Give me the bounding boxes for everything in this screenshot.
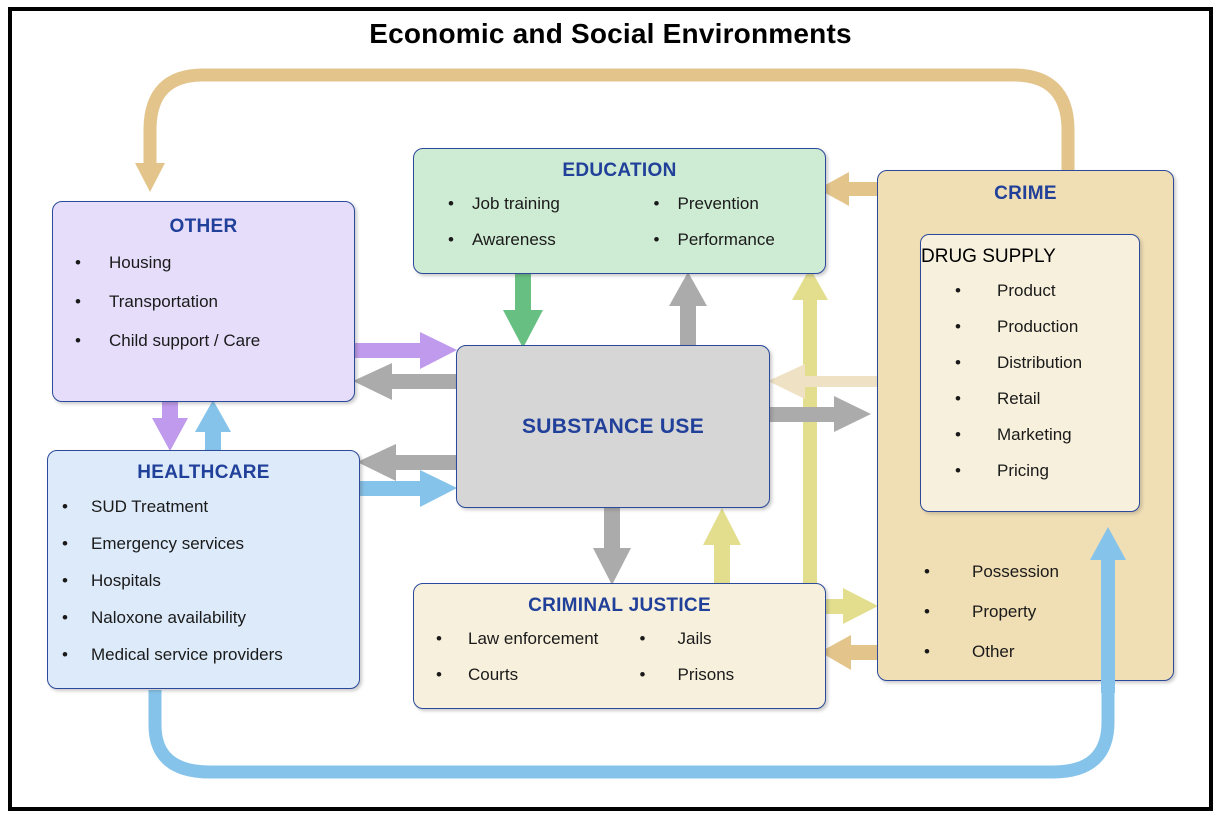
list-item-label: Marketing: [997, 426, 1139, 443]
box-crime[interactable]: CRIME DRUG SUPPLY •Product •Production •…: [877, 170, 1174, 681]
list-item: •Property: [878, 603, 1173, 620]
connector-crime-to-education: [818, 172, 879, 206]
list-item: •Jails: [620, 630, 826, 647]
list-item-label: Pricing: [997, 462, 1139, 479]
list-item: •Possession: [878, 563, 1173, 580]
bullet-glyph: •: [62, 646, 68, 663]
box-drug-supply[interactable]: DRUG SUPPLY •Product •Production •Distri…: [920, 234, 1140, 512]
bullet-glyph: •: [75, 293, 81, 310]
connector-other-to-healthcare: [152, 401, 188, 451]
diagram-canvas: Economic and Social Environments: [0, 0, 1221, 819]
bullet-glyph: •: [62, 609, 68, 626]
list-item-label: Child support / Care: [109, 332, 354, 349]
list-item-label: Awareness: [472, 231, 620, 248]
list-item-label: Job training: [472, 195, 620, 212]
list-item: •Law enforcement: [414, 630, 620, 647]
bullet-glyph: •: [955, 282, 961, 299]
bullet-glyph: •: [436, 666, 442, 683]
list-item: •Medical service providers: [48, 646, 359, 663]
box-education[interactable]: EDUCATION •Job training •Awareness •Prev…: [413, 148, 826, 274]
box-crime-list: •Possession •Property •Other: [878, 563, 1173, 660]
list-item-label: SUD Treatment: [91, 498, 359, 515]
bullet-glyph: •: [448, 231, 454, 248]
box-substance-use[interactable]: SUBSTANCE USE: [456, 345, 770, 508]
box-drug-supply-list: •Product •Production •Distribution •Reta…: [921, 282, 1139, 479]
box-substance-use-title: SUBSTANCE USE: [522, 415, 704, 439]
box-drug-supply-title: DRUG SUPPLY: [921, 246, 1139, 268]
list-item: •Production: [921, 318, 1139, 335]
bullet-glyph: •: [955, 318, 961, 335]
list-item-label: Distribution: [997, 354, 1139, 371]
box-education-column-2: •Prevention •Performance: [620, 195, 826, 267]
list-item: •Marketing: [921, 426, 1139, 443]
bullet-glyph: •: [640, 666, 646, 683]
list-item: •Performance: [620, 231, 826, 248]
list-item: •Other: [878, 643, 1173, 660]
list-item: •Distribution: [921, 354, 1139, 371]
connector-other-to-substance-use: [355, 332, 457, 369]
list-item: •Awareness: [414, 231, 620, 248]
bullet-glyph: •: [640, 630, 646, 647]
box-healthcare-title: HEALTHCARE: [48, 462, 359, 484]
connector-crime-to-criminal-justice: [820, 635, 879, 670]
list-item: •Child support / Care: [53, 332, 354, 349]
bullet-glyph: •: [62, 572, 68, 589]
bullet-glyph: •: [955, 390, 961, 407]
list-item-label: Property: [972, 603, 1173, 620]
box-healthcare[interactable]: HEALTHCARE •SUD Treatment •Emergency ser…: [47, 450, 360, 689]
list-item: •Hospitals: [48, 572, 359, 589]
box-other-list: •Housing •Transportation •Child support …: [53, 254, 354, 349]
bullet-glyph: •: [654, 195, 660, 212]
bullet-glyph: •: [924, 563, 930, 580]
list-item-label: Hospitals: [91, 572, 359, 589]
box-other[interactable]: OTHER •Housing •Transportation •Child su…: [52, 201, 355, 402]
list-item: •Retail: [921, 390, 1139, 407]
connector-healthcare-to-other: [195, 400, 231, 450]
list-item: •Housing: [53, 254, 354, 271]
bullet-glyph: •: [955, 426, 961, 443]
list-item-label: Courts: [468, 666, 620, 683]
list-item: •Pricing: [921, 462, 1139, 479]
list-item: •Courts: [414, 666, 620, 683]
connector-education-to-substance-use: [503, 274, 543, 348]
list-item-label: Product: [997, 282, 1139, 299]
bullet-glyph: •: [448, 195, 454, 212]
connector-substance-use-to-education: [669, 272, 707, 348]
connector-substance-use-to-crime: [770, 396, 871, 432]
list-item: •Naloxone availability: [48, 609, 359, 626]
bullet-glyph: •: [62, 498, 68, 515]
bullet-glyph: •: [924, 643, 930, 660]
list-item-label: Naloxone availability: [91, 609, 359, 626]
list-item-label: Law enforcement: [468, 630, 620, 647]
bullet-glyph: •: [955, 354, 961, 371]
list-item: •Job training: [414, 195, 620, 212]
box-healthcare-list: •SUD Treatment •Emergency services •Hosp…: [48, 498, 359, 663]
connector-substance-use-to-criminal-justice: [593, 508, 631, 585]
bullet-glyph: •: [75, 254, 81, 271]
list-item-label: Prevention: [678, 195, 826, 212]
list-item-label: Prisons: [678, 666, 826, 683]
list-item-label: Performance: [678, 231, 826, 248]
list-item-label: Possession: [972, 563, 1173, 580]
list-item: •SUD Treatment: [48, 498, 359, 515]
list-item: •Transportation: [53, 293, 354, 310]
list-item-label: Other: [972, 643, 1173, 660]
bullet-glyph: •: [436, 630, 442, 647]
list-item-label: Production: [997, 318, 1139, 335]
list-item-label: Emergency services: [91, 535, 359, 552]
box-criminal-justice-title: CRIMINAL JUSTICE: [414, 595, 825, 617]
list-item-label: Jails: [678, 630, 826, 647]
list-item: •Product: [921, 282, 1139, 299]
list-item-label: Retail: [997, 390, 1139, 407]
connector-substance-use-to-other: [353, 363, 458, 400]
bullet-glyph: •: [654, 231, 660, 248]
connector-healthcare-to-substance-use: [360, 470, 457, 507]
bullet-glyph: •: [62, 535, 68, 552]
list-item-label: Housing: [109, 254, 354, 271]
connector-criminal-justice-to-crime: [824, 588, 878, 624]
bullet-glyph: •: [955, 462, 961, 479]
list-item-label: Transportation: [109, 293, 354, 310]
list-item: •Prevention: [620, 195, 826, 212]
bullet-glyph: •: [75, 332, 81, 349]
box-criminal-justice-column-1: •Law enforcement •Courts: [414, 630, 620, 702]
connector-criminal-justice-to-substance-use: [703, 508, 741, 585]
bullet-glyph: •: [924, 603, 930, 620]
box-other-title: OTHER: [53, 216, 354, 238]
box-crime-title: CRIME: [878, 183, 1173, 205]
box-education-title: EDUCATION: [414, 160, 825, 182]
list-item: •Prisons: [620, 666, 826, 683]
list-item: •Emergency services: [48, 535, 359, 552]
box-criminal-justice-column-2: •Jails •Prisons: [620, 630, 826, 702]
connector-substance-use-to-healthcare: [357, 444, 458, 481]
list-item-label: Medical service providers: [91, 646, 359, 663]
box-education-column-1: •Job training •Awareness: [414, 195, 620, 267]
box-criminal-justice[interactable]: CRIMINAL JUSTICE •Law enforcement •Court…: [413, 583, 826, 709]
connector-criminal-justice-to-education: [792, 268, 828, 585]
